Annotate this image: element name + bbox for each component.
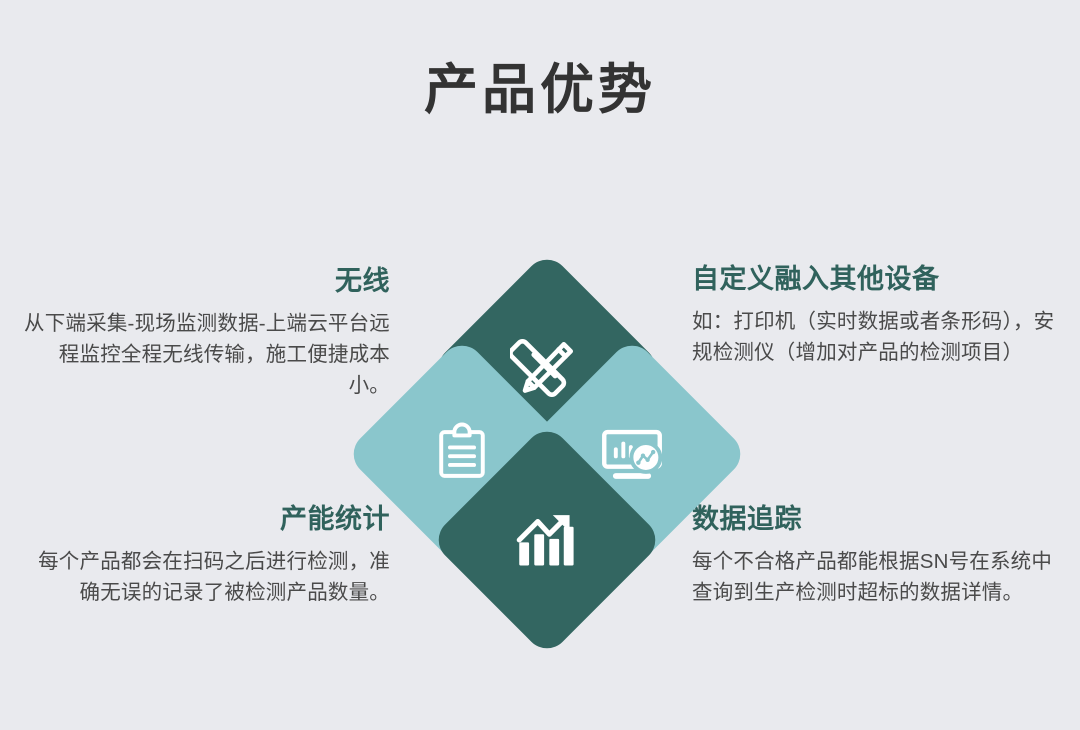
feature-body-capacity-statistics: 每个产品都会在扫码之后进行检测，准确无误的记录了被检测产品数量。 <box>22 546 390 608</box>
feature-body-data-tracking: 每个不合格产品都能根据SN号在系统中查询到生产检测时超标的数据详情。 <box>692 546 1060 608</box>
feature-body-custom-integration: 如：打印机（实时数据或者条形码），安规检测仪（增加对产品的检测项目） <box>692 306 1060 368</box>
feature-title-wireless: 无线 <box>22 265 390 299</box>
feature-title-capacity-statistics: 产能统计 <box>22 503 390 537</box>
feature-block-capacity-statistics: 产能统计 每个产品都会在扫码之后进行检测，准确无误的记录了被检测产品数量。 <box>22 503 390 608</box>
infographic-page: 产品优势 无线 从下端采集-现场监测数据-上端云平台远程监控全程无线传输，施工便… <box>0 0 1080 730</box>
feature-title-custom-integration: 自定义融入其他设备 <box>692 263 1060 297</box>
page-title: 产品优势 <box>0 58 1080 123</box>
diamond-cluster <box>380 287 714 623</box>
growth-bar-chart-icon <box>497 490 597 590</box>
feature-block-data-tracking: 数据追踪 每个不合格产品都能根据SN号在系统中查询到生产检测时超标的数据详情。 <box>692 503 1060 608</box>
feature-block-custom-integration: 自定义融入其他设备 如：打印机（实时数据或者条形码），安规检测仪（增加对产品的检… <box>692 263 1060 368</box>
feature-body-wireless: 从下端采集-现场监测数据-上端云平台远程监控全程无线传输，施工便捷成本小。 <box>22 308 390 401</box>
feature-block-wireless: 无线 从下端采集-现场监测数据-上端云平台远程监控全程无线传输，施工便捷成本小。 <box>22 265 390 401</box>
feature-title-data-tracking: 数据追踪 <box>692 503 1060 537</box>
